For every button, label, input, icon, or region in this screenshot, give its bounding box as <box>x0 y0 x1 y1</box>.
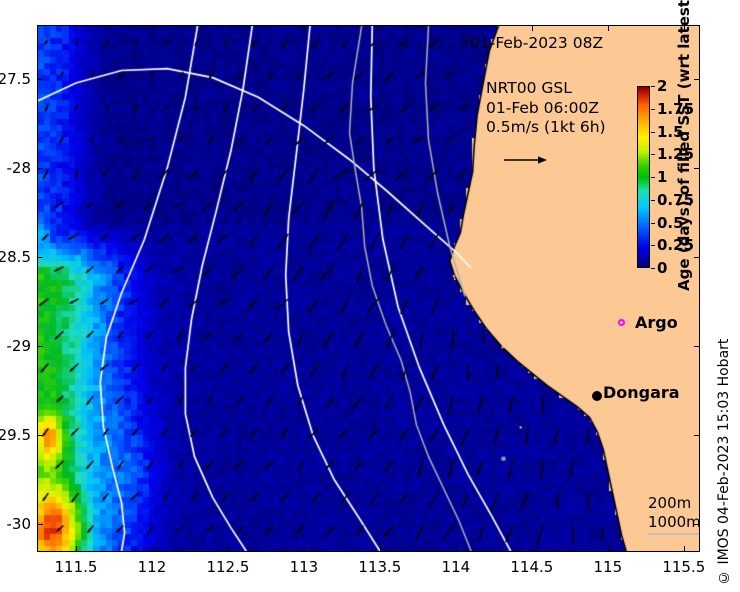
x-axis-label: 113.5 <box>345 558 415 576</box>
y-axis-tick <box>37 168 43 169</box>
x-axis-tick <box>76 25 77 31</box>
y-axis-tick <box>37 524 43 525</box>
colorbar-tick <box>651 177 655 178</box>
date-stamp: 01-Feb-2023 08Z <box>470 34 603 52</box>
colorbar-tick <box>651 223 655 224</box>
argo-label: Argo <box>635 313 678 332</box>
y-axis-tick <box>37 346 43 347</box>
y-axis-tick <box>694 524 700 525</box>
colorbar-tick <box>651 154 655 155</box>
contour-1000m-label: 1000m <box>648 513 700 532</box>
contour-200m-label: 200m <box>648 494 700 513</box>
x-axis-tick <box>608 546 609 552</box>
x-axis-tick <box>608 25 609 31</box>
x-axis-tick <box>684 546 685 552</box>
y-axis-tick <box>694 435 700 436</box>
y-axis-label: -29.5 <box>0 426 31 444</box>
colorbar-tick <box>651 245 655 246</box>
x-axis-tick <box>228 546 229 552</box>
colorbar-tick <box>651 268 655 269</box>
y-axis-label: -28 <box>0 159 31 177</box>
x-axis-tick <box>304 546 305 552</box>
y-axis-tick <box>694 168 700 169</box>
figure-root: 01-Feb-2023 08Z NRT00 GSL 01-Feb 06:00Z … <box>0 0 740 592</box>
colorbar-tick-label: 1 <box>657 170 667 185</box>
colorbar-gradient <box>637 86 650 268</box>
x-axis-tick <box>380 25 381 31</box>
x-axis-tick <box>532 25 533 31</box>
x-axis-tick <box>532 546 533 552</box>
x-axis-label: 112.5 <box>193 558 263 576</box>
x-axis-tick <box>380 546 381 552</box>
contour-depth-legend: 200m 1000m <box>648 494 700 537</box>
y-axis-label: -27.5 <box>0 70 31 88</box>
x-axis-label: 115.5 <box>649 558 719 576</box>
colorbar-tick-label: 0 <box>657 261 667 276</box>
gsl-vector-scale-label: 0.5m/s (1kt 6h) <box>486 118 606 138</box>
x-axis-tick <box>76 546 77 552</box>
dongara-label: Dongara <box>603 383 680 402</box>
y-axis-label: -28.5 <box>0 248 31 266</box>
x-axis-tick <box>152 546 153 552</box>
y-axis-tick <box>37 79 43 80</box>
colorbar-title: Age (days) of filled SST (wrt latest) <box>673 12 695 272</box>
y-axis-tick <box>694 346 700 347</box>
colorbar-tick <box>651 86 655 87</box>
colorbar-tick <box>651 200 655 201</box>
y-axis-tick <box>37 435 43 436</box>
x-axis-tick <box>304 25 305 31</box>
y-axis-label: -29 <box>0 337 31 355</box>
x-axis-tick <box>684 25 685 31</box>
map-plot-area[interactable]: 01-Feb-2023 08Z NRT00 GSL 01-Feb 06:00Z … <box>37 25 700 552</box>
x-axis-label: 113 <box>269 558 339 576</box>
x-axis-tick <box>456 546 457 552</box>
x-axis-label: 114.5 <box>497 558 567 576</box>
copyright-label: © IMOS 04-Feb-2023 15:03 Hobart <box>716 330 736 585</box>
y-axis-tick <box>694 257 700 258</box>
x-axis-label: 114 <box>421 558 491 576</box>
x-axis-label: 115 <box>573 558 643 576</box>
y-axis-tick <box>694 79 700 80</box>
gsl-time-label: 01-Feb 06:00Z <box>486 99 606 119</box>
gsl-annotation: NRT00 GSL 01-Feb 06:00Z 0.5m/s (1kt 6h) <box>486 79 606 138</box>
dongara-marker-icon <box>592 391 602 401</box>
y-axis-tick <box>37 257 43 258</box>
x-axis-tick <box>228 25 229 31</box>
x-axis-tick <box>456 25 457 31</box>
x-axis-label: 112 <box>117 558 187 576</box>
colorbar-tick <box>651 132 655 133</box>
vector-key-arrow-icon <box>503 153 549 167</box>
colorbar-tick <box>651 109 655 110</box>
y-axis-label: -30 <box>0 515 31 533</box>
argo-marker-icon <box>618 319 625 326</box>
x-axis-tick <box>152 25 153 31</box>
colorbar-tick-label: 2 <box>657 79 667 94</box>
gsl-product-label: NRT00 GSL <box>486 79 606 99</box>
x-axis-label: 111.5 <box>41 558 111 576</box>
